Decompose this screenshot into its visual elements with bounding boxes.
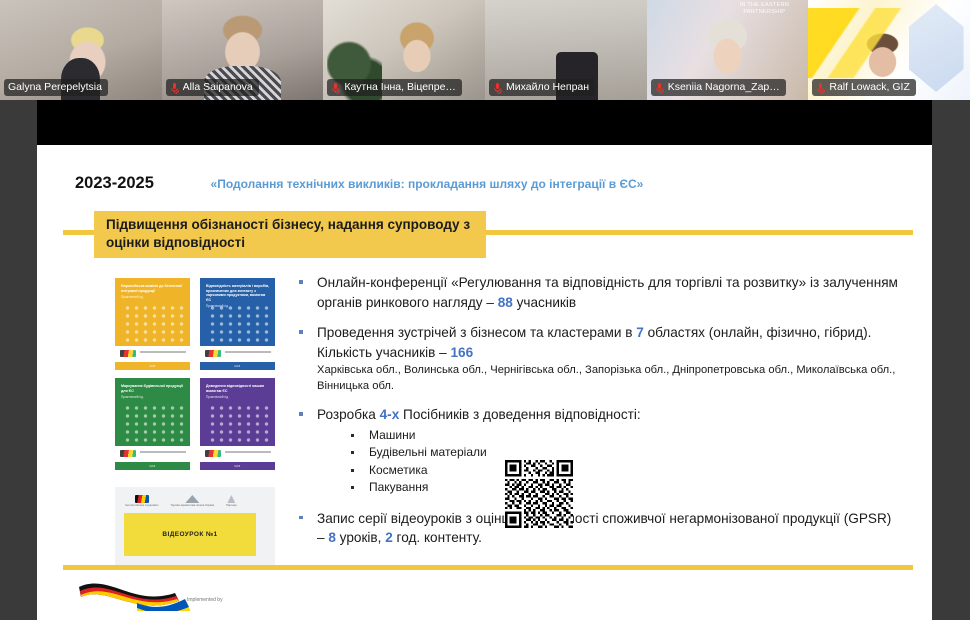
bullet-dot-icon xyxy=(299,330,303,334)
participant-tile[interactable]: Каутна Інна, Віцепре… xyxy=(323,0,485,100)
booklet-footer-text xyxy=(225,451,271,453)
booklet-cover: Європейська комісія до безпечної неігров… xyxy=(115,278,190,370)
microphone-muted-icon xyxy=(331,82,340,94)
participant-name-bar: Kseniia Nagorna_Zap… xyxy=(651,79,786,96)
sublist-item-label: Косметика xyxy=(369,463,428,477)
bullet-highlight: 4-х xyxy=(380,407,400,422)
partner-emblem-icon: Партнер xyxy=(226,495,236,507)
sublist-item-label: Машини xyxy=(369,428,415,442)
booklet-footer-text xyxy=(225,351,271,353)
booklet-footer xyxy=(115,446,190,462)
partner-logo-row: German-Ukraine cooperation Торгово-проми… xyxy=(125,493,269,509)
participant-tile[interactable]: Kseniia Nagorna_Zap… xyxy=(647,0,809,100)
bullet-text-tail: Посібників з доведення відповідності: xyxy=(399,407,640,422)
participant-name: Каутна Інна, Віцепре… xyxy=(344,81,456,94)
booklet-footer xyxy=(200,446,275,462)
participant-name-bar: Galyna Perepelytsia xyxy=(4,79,108,96)
bullet-text: Проведення зустрічей з бізнесом та класт… xyxy=(317,325,636,340)
microphone-muted-icon xyxy=(816,82,825,94)
participant-name: Ralf Lowack, GIZ xyxy=(829,81,910,94)
participant-name-bar: Ralf Lowack, GIZ xyxy=(812,79,916,96)
bullet-highlight: 8 xyxy=(328,530,336,545)
bullet-item: Розробка 4-х Посібників з доведення відп… xyxy=(291,405,901,497)
screenshare-letterbox xyxy=(37,100,932,145)
booklet-title: Відповідність матеріалів і виробів, приз… xyxy=(206,284,270,302)
booklet-subtitle: Практичний гід xyxy=(121,295,185,299)
sub-bullet-dot-icon xyxy=(351,486,354,489)
chamber-of-commerce-icon: Торгово-промислова палата України xyxy=(170,495,214,507)
bottom-accent-rule xyxy=(63,565,913,570)
booklet-footer-text xyxy=(140,351,186,353)
booklet-title: Європейська комісія до безпечної неігров… xyxy=(121,284,185,293)
slide-title: 2023-2025 «Подолання технічних викликів:… xyxy=(75,173,915,194)
sublist-item: Машини xyxy=(317,427,901,445)
bullet-highlight: 88 xyxy=(498,295,513,310)
sub-bullet-dot-icon xyxy=(351,469,354,472)
slide-bullet-list: Онлайн-конференції «Регулювання та відпо… xyxy=(291,273,901,559)
booklet-bottom-bar: GIZ xyxy=(115,362,190,370)
cover-dot-pattern xyxy=(123,404,184,446)
cover-dot-pattern xyxy=(208,404,269,446)
sublist-item: Будівельні матеріали xyxy=(317,444,901,462)
implemented-by-label: Implemented by xyxy=(187,597,223,603)
video-lesson-thumbnail: German-Ukraine cooperation Торгово-проми… xyxy=(115,487,275,565)
booklet-subtitle: Практичний гід xyxy=(206,395,270,399)
guide-sublist: Машини Будівельні матеріали Косметика Па… xyxy=(317,427,901,497)
microphone-muted-icon xyxy=(170,82,179,94)
booklet-thumbnails: Європейська комісія до безпечної неігров… xyxy=(115,278,275,470)
booklet-subtitle: Практичний гід xyxy=(121,395,185,399)
booklet-cover: Маркування будівельної продукції для ЄС … xyxy=(115,378,190,470)
video-lesson-label: ВІДЕОУРОК №1 xyxy=(162,531,217,538)
bullet-item: Онлайн-конференції «Регулювання та відпо… xyxy=(291,273,901,312)
sublist-item-label: Пакування xyxy=(369,480,428,494)
partner-logo-icon xyxy=(205,350,221,357)
booklet-footer-text xyxy=(140,451,186,453)
bullet-item: Запис серії відеоуроків з оцінці відпові… xyxy=(291,509,901,548)
bullet-highlight-2: 2 xyxy=(385,530,393,545)
sublist-item: Пакування xyxy=(317,479,901,497)
participant-tile[interactable]: Alla Saipanova xyxy=(162,0,324,100)
booklet-title: Маркування будівельної продукції для ЄС xyxy=(121,384,185,393)
bullet-text: Розробка xyxy=(317,407,380,422)
booklet-cover: Доведення відповідності машин вимогам ЄС… xyxy=(200,378,275,470)
participant-name: Alla Saipanova xyxy=(183,81,253,94)
video-lesson-card: ВІДЕОУРОК №1 xyxy=(124,513,256,556)
bullet-text-tail: учасників xyxy=(513,295,576,310)
participant-name-bar: Михайло Непран xyxy=(489,79,595,96)
german-ukrainian-ribbon-icon xyxy=(75,577,225,611)
cover-dot-pattern xyxy=(123,304,184,346)
bullet-text-tail-2: год. контенту. xyxy=(393,530,482,545)
qr-code[interactable] xyxy=(500,460,578,528)
participant-tile[interactable]: Михайло Непран xyxy=(485,0,647,100)
booklet-title: Доведення відповідності машин вимогам ЄС xyxy=(206,384,270,393)
participant-tile[interactable]: Ralf Lowack, GIZ xyxy=(808,0,970,100)
bullet-highlight-2: 166 xyxy=(450,345,473,360)
presentation-slide: 2023-2025 «Подолання технічних викликів:… xyxy=(37,145,932,620)
booklet-footer xyxy=(200,346,275,362)
german-ukraine-flag-icon: German-Ukraine cooperation xyxy=(125,495,158,507)
booklet-bottom-bar: GIZ xyxy=(200,362,275,370)
bullet-text-tail: уроків, xyxy=(336,530,385,545)
participant-name: Михайло Непран xyxy=(506,81,589,94)
microphone-muted-icon xyxy=(655,82,664,94)
participant-name-bar: Alla Saipanova xyxy=(166,79,259,96)
regions-list: Харківська обл., Волинська обл., Чернігі… xyxy=(317,363,901,394)
participant-name: Kseniia Nagorna_Zap… xyxy=(668,81,780,94)
booklet-footer xyxy=(115,346,190,362)
window-left-gutter xyxy=(0,100,37,620)
booklet-bottom-bar: GIZ xyxy=(115,462,190,470)
logo-caption: Партнер xyxy=(226,504,236,507)
section-heading: Підвищення обізнаності бізнесу, надання … xyxy=(94,211,486,258)
microphone-muted-icon xyxy=(493,82,502,94)
logo-caption: German-Ukraine cooperation xyxy=(125,504,158,507)
sublist-item: Косметика xyxy=(317,462,901,480)
booklet-bottom-bar: GIZ xyxy=(200,462,275,470)
booklet-cover: Відповідність матеріалів і виробів, приз… xyxy=(200,278,275,370)
partner-logo-icon xyxy=(205,450,221,457)
bullet-highlight: 7 xyxy=(636,325,644,340)
bullet-text: Онлайн-конференції «Регулювання та відпо… xyxy=(317,275,898,310)
partner-logo-icon xyxy=(120,350,136,357)
bullet-item: Проведення зустрічей з бізнесом та класт… xyxy=(291,323,901,394)
bullet-dot-icon xyxy=(299,280,303,284)
sub-bullet-dot-icon xyxy=(351,451,354,454)
sub-bullet-dot-icon xyxy=(351,434,354,437)
partner-logo-icon xyxy=(120,450,136,457)
participant-tile[interactable]: Galyna Perepelytsia xyxy=(0,0,162,100)
bullet-dot-icon xyxy=(299,516,303,520)
window-right-gutter xyxy=(932,100,970,620)
bullet-dot-icon xyxy=(299,412,303,416)
slide-title-years: 2023-2025 xyxy=(75,174,154,192)
logo-caption: Торгово-промислова палата України xyxy=(170,504,214,507)
sublist-item-label: Будівельні матеріали xyxy=(369,445,487,459)
video-filmstrip: Galyna Perepelytsia Alla Saipanova Каутн… xyxy=(0,0,970,100)
participant-name-bar: Каутна Інна, Віцепре… xyxy=(327,79,462,96)
participant-name: Galyna Perepelytsia xyxy=(8,81,102,94)
cover-dot-pattern xyxy=(208,304,269,346)
slide-title-subtitle: «Подолання технічних викликів: прокладан… xyxy=(159,177,644,191)
